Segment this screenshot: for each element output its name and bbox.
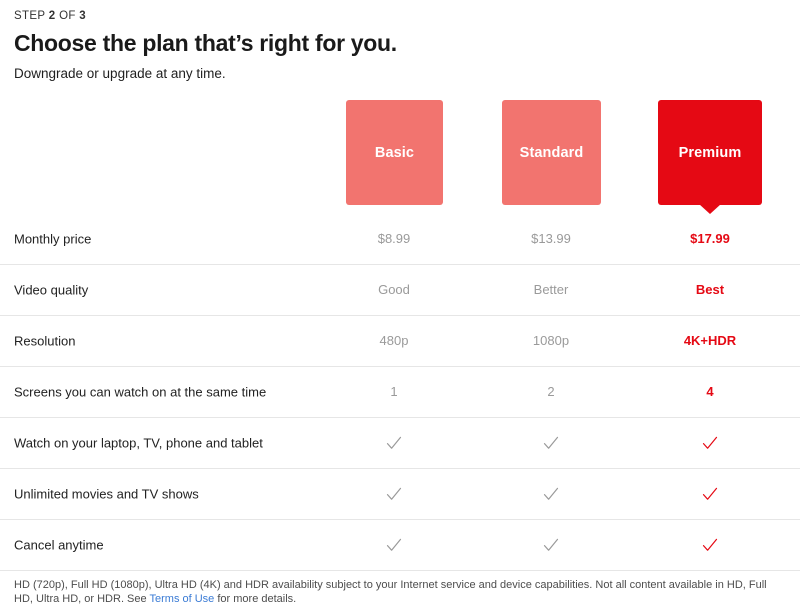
- feature-value-cell: [542, 434, 560, 452]
- check-icon: [385, 536, 403, 554]
- feature-value-text: 4K+HDR: [684, 333, 736, 348]
- table-row: Monthly price$8.99$13.99$17.99: [0, 214, 800, 265]
- table-row: Resolution480p1080p4K+HDR: [0, 316, 800, 367]
- step-current-number: 2: [49, 10, 56, 22]
- feature-value-cell: Better: [534, 281, 569, 299]
- page-subtitle: Downgrade or upgrade at any time.: [14, 66, 786, 81]
- step-of-label: OF: [59, 10, 76, 22]
- disclaimer-text-before: HD (720p), Full HD (1080p), Ultra HD (4K…: [14, 579, 767, 605]
- feature-value-text: Best: [696, 282, 724, 297]
- feature-value-cell: [701, 434, 719, 452]
- feature-value-cell: 1: [390, 383, 397, 401]
- feature-value-text: 480p: [380, 333, 409, 348]
- table-row: Unlimited movies and TV shows: [0, 469, 800, 520]
- feature-value-text: 4: [706, 384, 713, 399]
- check-icon: [701, 536, 719, 554]
- feature-value-cell: [701, 485, 719, 503]
- selected-plan-pointer-icon: [699, 204, 721, 214]
- table-row: Screens you can watch on at the same tim…: [0, 367, 800, 418]
- feature-value-text: 1: [390, 384, 397, 399]
- check-icon: [701, 434, 719, 452]
- feature-value-text: Better: [534, 282, 569, 297]
- feature-value-cell: $17.99: [690, 230, 730, 248]
- plan-cards: BasicStandardPremium: [0, 100, 800, 216]
- feature-value-cell: 480p: [380, 332, 409, 350]
- plan-card-premium[interactable]: Premium: [658, 100, 762, 205]
- plan-card-standard[interactable]: Standard: [502, 100, 601, 205]
- feature-label: Unlimited movies and TV shows: [14, 487, 199, 502]
- feature-value-cell: 1080p: [533, 332, 569, 350]
- plan-card-label: Premium: [679, 145, 742, 161]
- feature-value-text: $17.99: [690, 231, 730, 246]
- feature-value-text: $8.99: [378, 231, 411, 246]
- feature-value-text: 2: [547, 384, 554, 399]
- feature-value-cell: [385, 485, 403, 503]
- check-icon: [542, 434, 560, 452]
- feature-value-cell: $13.99: [531, 230, 571, 248]
- check-icon: [385, 485, 403, 503]
- feature-value-cell: 4K+HDR: [684, 332, 736, 350]
- feature-value-cell: $8.99: [378, 230, 411, 248]
- feature-value-cell: [542, 485, 560, 503]
- feature-value-cell: [385, 536, 403, 554]
- terms-of-use-link[interactable]: Terms of Use: [150, 593, 215, 605]
- feature-value-cell: [542, 536, 560, 554]
- feature-label: Screens you can watch on at the same tim…: [14, 385, 266, 400]
- check-icon: [701, 485, 719, 503]
- legal-disclaimer: HD (720p), Full HD (1080p), Ultra HD (4K…: [14, 578, 786, 606]
- table-row: Cancel anytime: [0, 520, 800, 571]
- plan-selection-page: STEP 2 OF 3 Choose the plan that’s right…: [0, 0, 800, 614]
- feature-value-cell: Good: [378, 281, 410, 299]
- feature-value-text: Good: [378, 282, 410, 297]
- feature-label: Resolution: [14, 334, 75, 349]
- check-icon: [385, 434, 403, 452]
- step-total-number: 3: [79, 10, 86, 22]
- feature-label: Watch on your laptop, TV, phone and tabl…: [14, 436, 263, 451]
- feature-label: Video quality: [14, 283, 88, 298]
- feature-label: Cancel anytime: [14, 538, 104, 553]
- feature-value-text: $13.99: [531, 231, 571, 246]
- feature-value-cell: Best: [696, 281, 724, 299]
- feature-value-cell: 2: [547, 383, 554, 401]
- disclaimer-text-after: for more details.: [214, 593, 296, 605]
- plan-card-label: Basic: [375, 145, 414, 161]
- feature-value-cell: [701, 536, 719, 554]
- feature-value-cell: 4: [706, 383, 713, 401]
- step-prefix-label: STEP: [14, 10, 45, 22]
- step-indicator: STEP 2 OF 3: [14, 10, 786, 22]
- plan-comparison-table: Monthly price$8.99$13.99$17.99Video qual…: [0, 214, 800, 571]
- page-header: STEP 2 OF 3 Choose the plan that’s right…: [0, 0, 800, 81]
- plan-card-label: Standard: [520, 145, 584, 161]
- check-icon: [542, 536, 560, 554]
- page-title: Choose the plan that’s right for you.: [14, 30, 786, 57]
- feature-value-cell: [385, 434, 403, 452]
- table-row: Watch on your laptop, TV, phone and tabl…: [0, 418, 800, 469]
- table-row: Video qualityGoodBetterBest: [0, 265, 800, 316]
- feature-label: Monthly price: [14, 232, 91, 247]
- feature-value-text: 1080p: [533, 333, 569, 348]
- check-icon: [542, 485, 560, 503]
- plan-card-basic[interactable]: Basic: [346, 100, 443, 205]
